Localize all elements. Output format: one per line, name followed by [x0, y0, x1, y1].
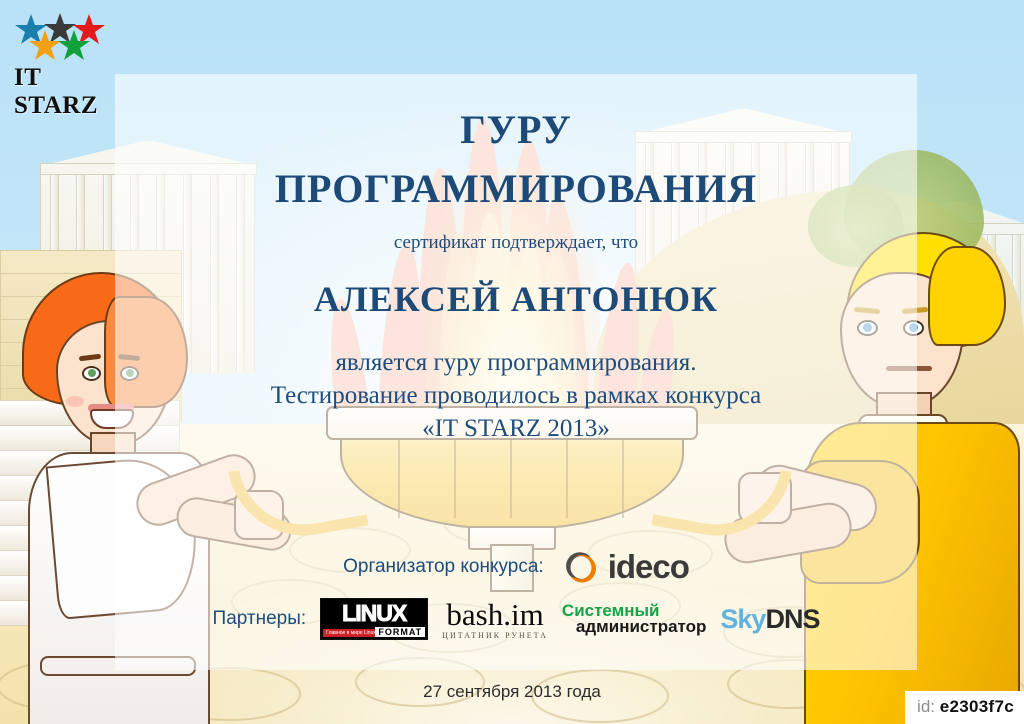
brand-logo: IT STARZ	[14, 12, 110, 120]
certificate-subtitle: сертификат подтверждает, что	[115, 232, 917, 254]
body-line-2: Тестирование проводилось в рамках конкур…	[115, 379, 917, 412]
skydns-part-1: Sky	[720, 604, 765, 634]
id-badge: id: e2303f7c	[905, 691, 1024, 724]
five-stars-icon	[14, 12, 110, 62]
linux-format-logo: LINUX Главное в мире Linux FORMAT	[320, 598, 428, 640]
title-line-2: ПРОГРАММИРОВАНИЯ	[115, 167, 917, 210]
ideco-wordmark: ideco	[608, 548, 689, 586]
bash-im-name: bash.im	[446, 599, 543, 630]
stars-group-icon	[14, 12, 110, 62]
organizer-label: Организатор конкурса:	[343, 556, 544, 578]
sysadmin-logo: Системный администратор	[562, 603, 706, 636]
partners-row: Партнеры: LINUX Главное в мире Linux FOR…	[115, 598, 917, 640]
id-label: id:	[917, 697, 935, 716]
ideco-logo: ideco	[562, 548, 689, 586]
linux-format-name: LINUX	[326, 602, 422, 625]
certificate-content: ГУРУ ПРОГРАММИРОВАНИЯ сертификат подтвер…	[115, 74, 917, 670]
brand-name: IT STARZ	[14, 64, 110, 120]
id-value: e2303f7c	[940, 697, 1014, 716]
star-icon-red	[73, 14, 105, 44]
certificate-title: ГУРУ ПРОГРАММИРОВАНИЯ	[115, 108, 917, 210]
sysadmin-line-2-text: администратор	[576, 617, 706, 636]
skydns-part-2: DNS	[765, 604, 819, 634]
linux-format-sub: FORMAT	[375, 627, 425, 637]
organizer-row: Организатор конкурса: ideco	[115, 548, 917, 586]
sysadmin-line-2: администратор	[562, 619, 706, 635]
body-line-3: «IT STARZ 2013»	[115, 412, 917, 445]
certificate-body: является гуру программирования. Тестиров…	[115, 346, 917, 445]
skydns-logo: SkyDNS	[720, 604, 819, 635]
certificate-canvas: IT STARZ ГУРУ ПРОГРАММИРОВАНИЯ сертифика…	[0, 0, 1024, 724]
ideco-swirl-icon	[562, 549, 599, 586]
certificate-date: 27 сентября 2013 года	[0, 682, 1024, 702]
bash-im-logo: bash.im ЦИТАТНИК РУНЕТА	[442, 599, 548, 640]
partners-label: Партнеры:	[213, 608, 307, 630]
body-line-1: является гуру программирования.	[115, 346, 917, 379]
title-line-1: ГУРУ	[460, 107, 572, 152]
bash-im-sub: ЦИТАТНИК РУНЕТА	[442, 631, 548, 640]
recipient-name: АЛЕКСЕЙ АНТОНЮК	[115, 278, 917, 320]
linux-format-tagline: Главное в мире Linux	[323, 629, 379, 637]
